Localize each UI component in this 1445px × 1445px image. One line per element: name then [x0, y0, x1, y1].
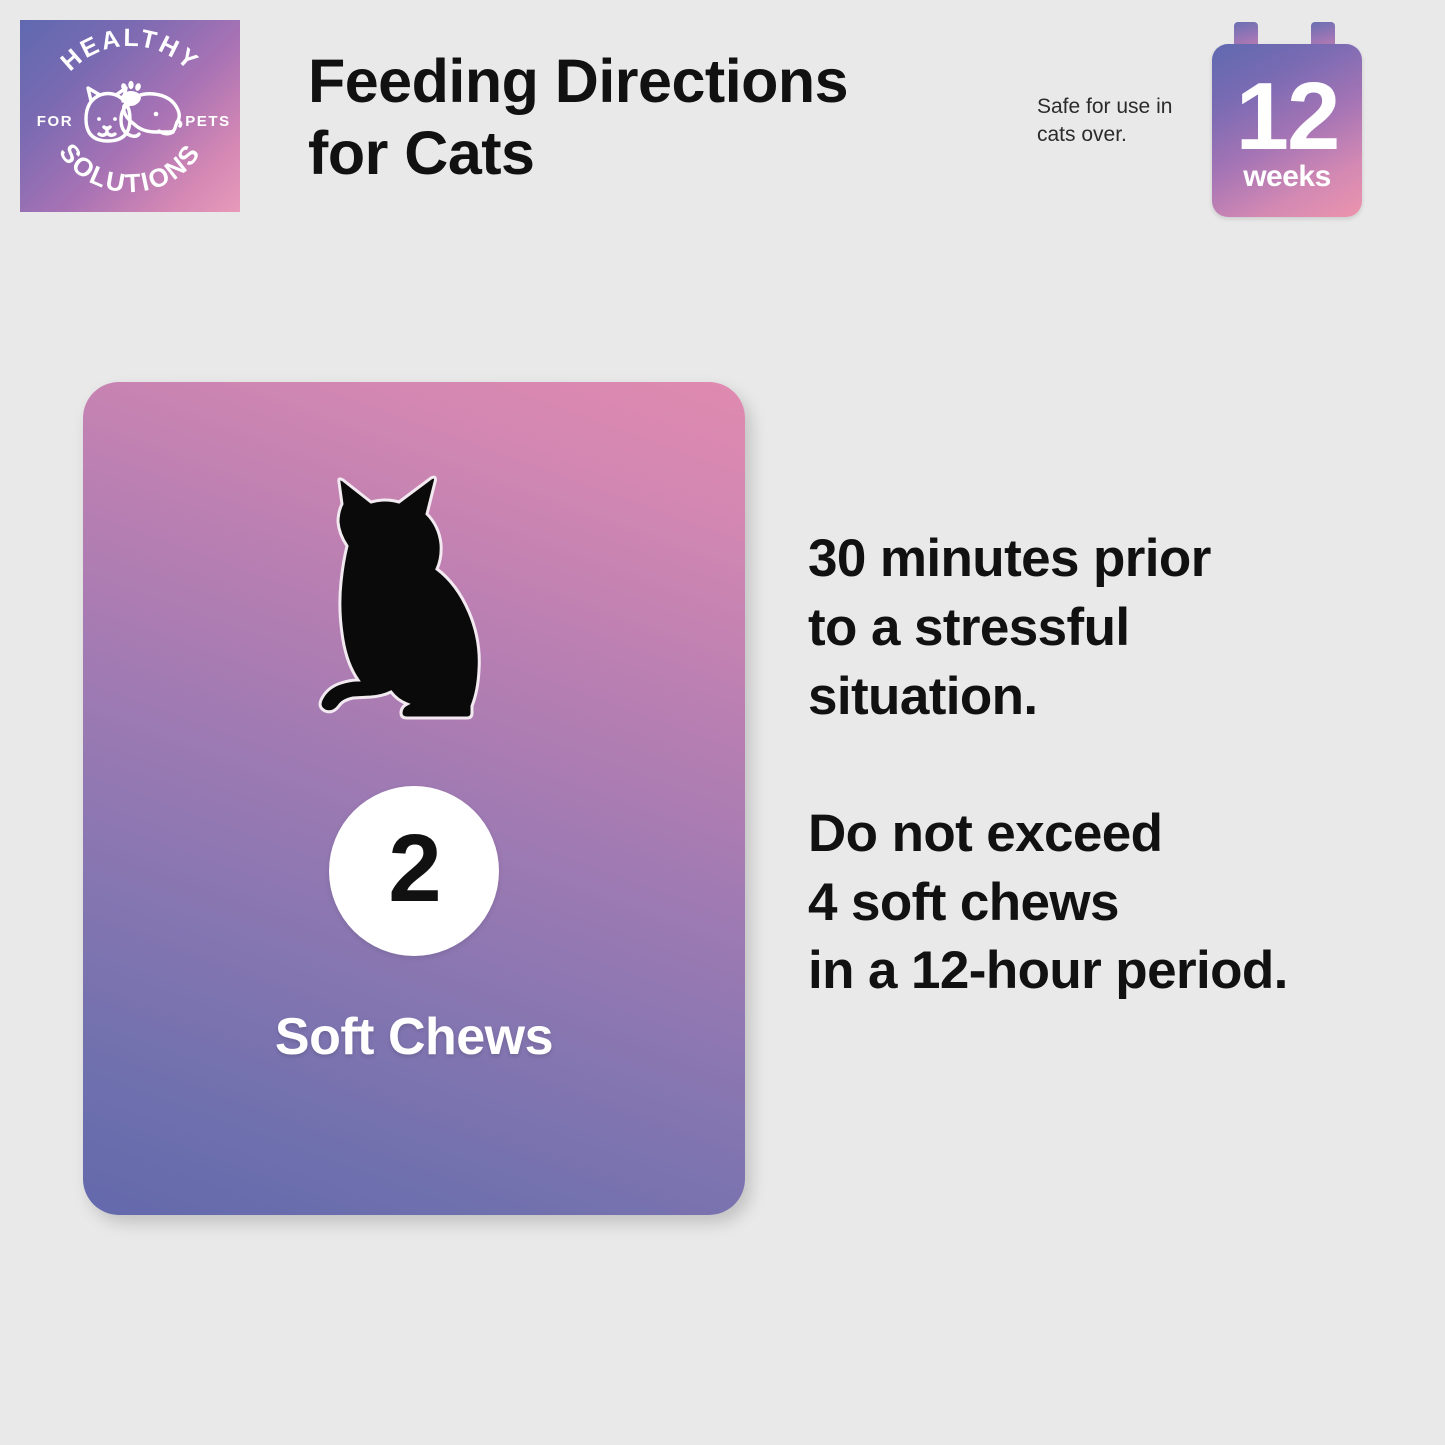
instruction-line: 4 soft chews [808, 869, 1428, 938]
calendar-icon: 12 weeks [1212, 44, 1362, 217]
dosage-card: 2 Soft Chews [83, 382, 745, 1215]
cat-silhouette-icon [83, 474, 745, 736]
svg-text:PETS: PETS [185, 113, 231, 130]
instruction-timing: 30 minutes prior to a stressful situatio… [808, 525, 1428, 732]
dose-label: Soft Chews [83, 1007, 745, 1067]
feeding-directions-panel: HEALTHY SOLUTIONS FOR PETS [0, 0, 1445, 1445]
instruction-line: situation. [808, 663, 1428, 732]
svg-text:SOLUTIONS: SOLUTIONS [53, 138, 206, 199]
safe-note-line-1: Safe for use in [1037, 93, 1202, 121]
minimum-age-badge: 12 weeks [1212, 22, 1362, 217]
title-line-1: Feeding Directions [308, 46, 1008, 118]
instruction-line: 30 minutes prior [808, 525, 1428, 594]
dose-count-circle: 2 [329, 786, 499, 956]
safe-for-use-note: Safe for use in cats over. [1037, 93, 1202, 149]
instruction-line: Do not exceed [808, 800, 1428, 869]
page-title: Feeding Directions for Cats [308, 46, 1008, 190]
safe-note-line-2: cats over. [1037, 121, 1202, 149]
instructions-list: 30 minutes prior to a stressful situatio… [808, 525, 1428, 1006]
svg-text:FOR: FOR [37, 113, 73, 130]
instruction-maximum-dose: Do not exceed 4 soft chews in a 12-hour … [808, 800, 1428, 1007]
instruction-line: to a stressful [808, 594, 1428, 663]
healthy-solutions-logo: HEALTHY SOLUTIONS FOR PETS [20, 20, 240, 212]
dose-count: 2 [388, 821, 439, 917]
instruction-line: in a 12-hour period. [808, 937, 1428, 1006]
weeks-number: 12 [1236, 75, 1339, 159]
title-line-2: for Cats [308, 118, 1008, 190]
weeks-unit-label: weeks [1243, 162, 1331, 192]
svg-text:HEALTHY: HEALTHY [55, 24, 204, 77]
